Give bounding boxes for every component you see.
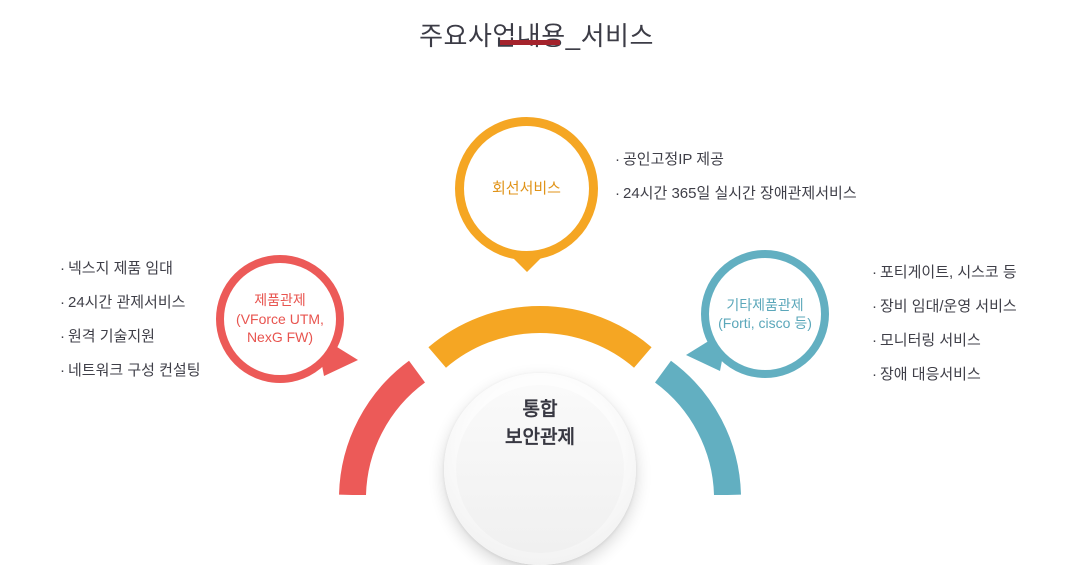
bubble-other-product-control-label: 기타제품관제 (Forti, cisco 등)	[718, 296, 812, 333]
bubble-product-control-label: 제품관제 (VForce UTM, NexG FW)	[236, 291, 324, 346]
bubble-other-product-control[interactable]: 기타제품관제 (Forti, cisco 등)	[701, 250, 829, 378]
bullet-dot-icon: ·	[615, 151, 620, 168]
bubble-other-product-control-line2: (Forti, cisco 등)	[718, 314, 812, 332]
bubble-product-control-line1: 제품관제	[236, 291, 324, 309]
bullet-list-line-service: ·공인고정IP 제공 ·24시간 365일 실시간 장애관제서비스	[615, 152, 857, 201]
bullet-dot-icon: ·	[872, 298, 877, 315]
center-hub-label: 통합 보안관제	[444, 396, 636, 451]
ring-arc-product-control	[353, 372, 418, 495]
bullet-dot-icon: ·	[615, 185, 620, 202]
ring-arc-other-product-control	[663, 372, 728, 495]
list-item: ·24시간 관제서비스	[60, 295, 201, 310]
bullet-text: 원격 기술지원	[68, 328, 155, 345]
bubble-line-service[interactable]: 회선서비스	[455, 117, 598, 260]
bullet-text: 넥스지 제품 임대	[68, 260, 173, 277]
center-hub-label-line1: 통합	[444, 396, 636, 424]
diagram-canvas: 주요사업내용_서비스 통합 보안관제 회선서비스 제품관제	[0, 0, 1073, 495]
bubble-line-service-label: 회선서비스	[492, 179, 561, 199]
bullet-list-other-product-control: ·포티게이트, 시스코 등 ·장비 임대/운영 서비스 ·모니터링 서비스 ·장…	[872, 265, 1017, 382]
center-hub-label-line2: 보안관제	[444, 424, 636, 452]
bullet-dot-icon: ·	[872, 332, 877, 349]
bullet-dot-icon: ·	[60, 260, 65, 277]
bullet-text: 모니터링 서비스	[880, 332, 981, 349]
bullet-dot-icon: ·	[872, 366, 877, 383]
list-item: ·원격 기술지원	[60, 329, 201, 344]
bullet-text: 포티게이트, 시스코 등	[880, 264, 1017, 281]
bullet-text: 공인고정IP 제공	[623, 151, 724, 168]
list-item: ·포티게이트, 시스코 등	[872, 265, 1017, 280]
bubble-line-service-line1: 회선서비스	[492, 179, 561, 199]
bullet-text: 장비 임대/운영 서비스	[880, 298, 1017, 315]
list-item: ·24시간 365일 실시간 장애관제서비스	[615, 186, 857, 201]
bullet-list-product-control: ·넥스지 제품 임대 ·24시간 관제서비스 ·원격 기술지원 ·네트워크 구성…	[60, 261, 201, 378]
ring-arc-line-service	[437, 319, 643, 357]
list-item: ·장애 대응서비스	[872, 367, 1017, 382]
bullet-text: 장애 대응서비스	[880, 366, 981, 383]
list-item: ·공인고정IP 제공	[615, 152, 857, 167]
bullet-dot-icon: ·	[60, 328, 65, 345]
bubble-product-control[interactable]: 제품관제 (VForce UTM, NexG FW)	[216, 255, 344, 383]
bullet-text: 24시간 관제서비스	[68, 294, 185, 311]
list-item: ·모니터링 서비스	[872, 333, 1017, 348]
list-item: ·네트워크 구성 컨설팅	[60, 363, 201, 378]
bullet-dot-icon: ·	[872, 264, 877, 281]
bubble-product-control-line3: NexG FW)	[236, 328, 324, 346]
bullet-dot-icon: ·	[60, 294, 65, 311]
list-item: ·넥스지 제품 임대	[60, 261, 201, 276]
bubble-product-control-line2: (VForce UTM,	[236, 310, 324, 328]
bullet-dot-icon: ·	[60, 362, 65, 379]
bullet-text: 24시간 365일 실시간 장애관제서비스	[623, 185, 857, 202]
list-item: ·장비 임대/운영 서비스	[872, 299, 1017, 314]
bubble-other-product-control-line1: 기타제품관제	[718, 296, 812, 314]
bullet-text: 네트워크 구성 컨설팅	[68, 362, 201, 379]
